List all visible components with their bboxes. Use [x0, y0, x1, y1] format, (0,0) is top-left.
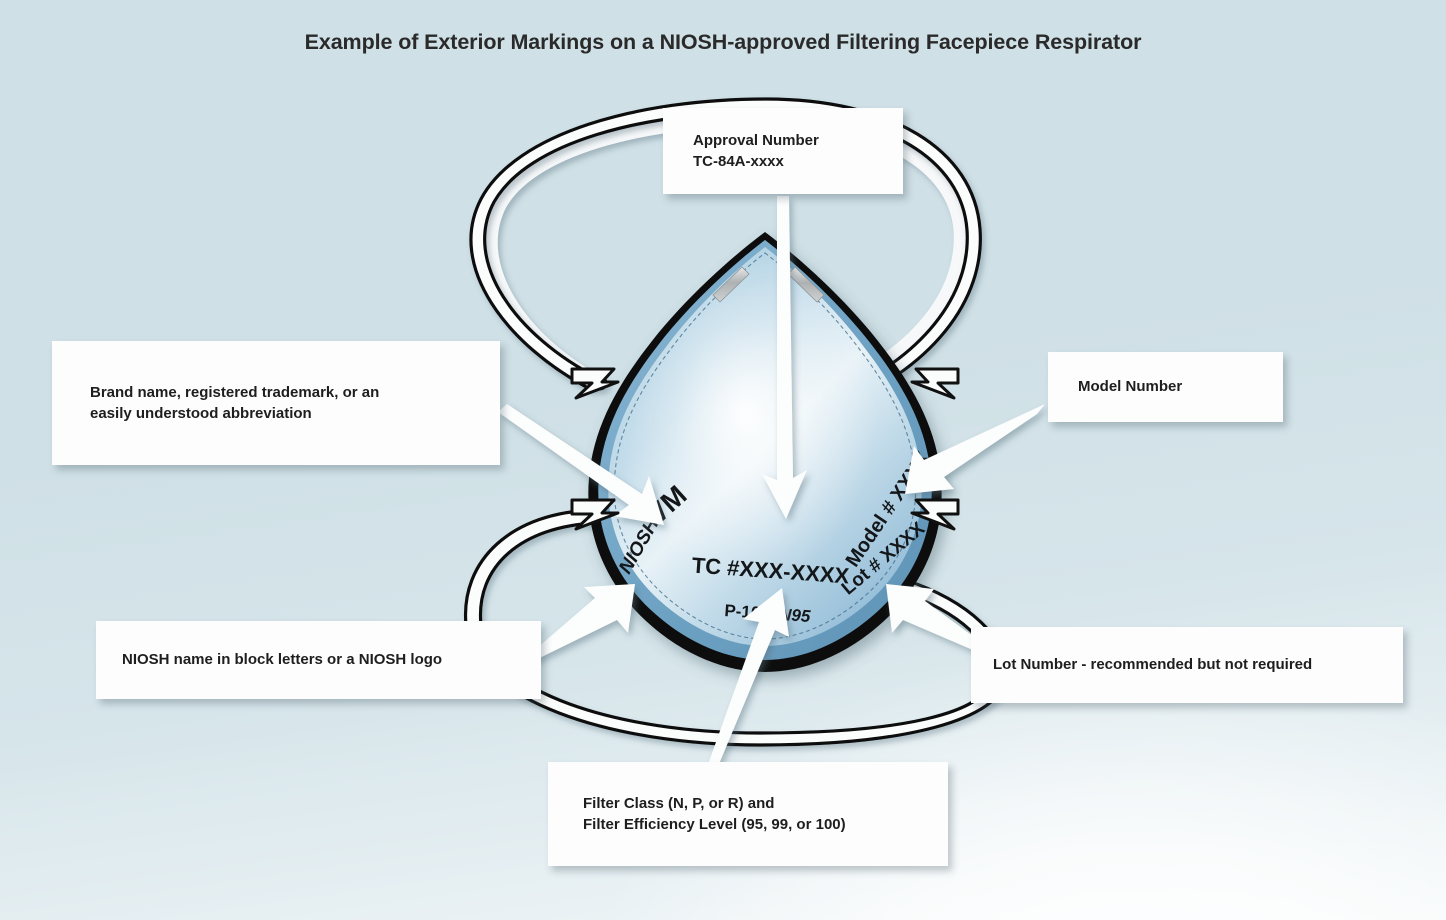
callout-niosh-name[interactable]: NIOSH name in block letters or a NIOSH l… [96, 621, 541, 699]
callout-filter-class-text: Filter Class (N, P, or R) and Filter Eff… [583, 793, 846, 836]
callout-niosh-name-text: NIOSH name in block letters or a NIOSH l… [122, 649, 442, 670]
callout-model-number-text: Model Number [1078, 376, 1182, 397]
callout-model-number[interactable]: Model Number [1048, 352, 1283, 422]
callout-brand-name[interactable]: Brand name, registered trademark, or an … [52, 341, 500, 465]
callout-filter-class[interactable]: Filter Class (N, P, or R) and Filter Eff… [548, 762, 948, 866]
callout-approval-number[interactable]: Approval Number TC-84A-xxxx [663, 108, 903, 194]
callout-approval-number-text: Approval Number TC-84A-xxxx [693, 130, 819, 173]
callout-brand-name-text: Brand name, registered trademark, or an … [90, 382, 379, 425]
callout-lot-number-text: Lot Number - recommended but not require… [993, 654, 1312, 675]
callout-lot-number[interactable]: Lot Number - recommended but not require… [971, 627, 1403, 703]
diagram-canvas: Example of Exterior Markings on a NIOSH-… [0, 0, 1446, 920]
